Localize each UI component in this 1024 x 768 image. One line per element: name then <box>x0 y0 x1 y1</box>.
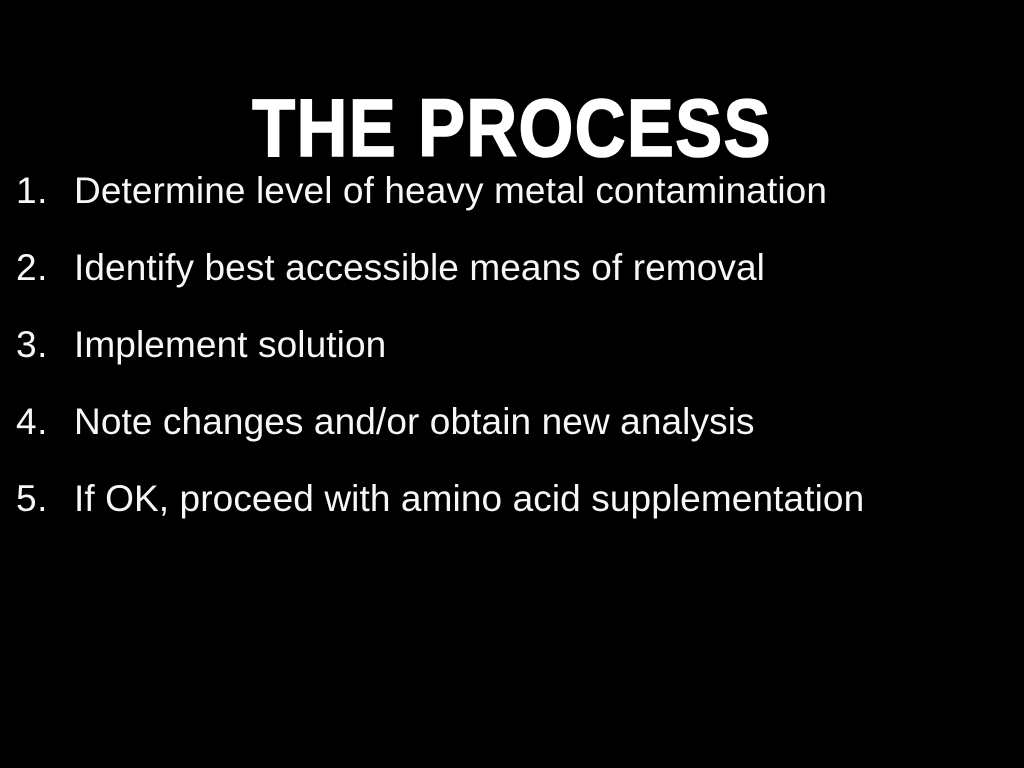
list-item-label: Identify best accessible means of remova… <box>74 229 765 306</box>
list-item-marker: 3. <box>16 306 70 383</box>
process-steps-list: 1. Determine level of heavy metal contam… <box>0 152 1024 537</box>
list-item-label: Determine level of heavy metal contamina… <box>74 152 827 229</box>
list-item-marker: 1. <box>16 152 70 229</box>
list-item-label: Note changes and/or obtain new analysis <box>74 383 755 460</box>
list-item: 4. Note changes and/or obtain new analys… <box>0 383 1024 460</box>
list-item-label: If OK, proceed with amino acid supplemen… <box>74 460 864 537</box>
list-item: 2. Identify best accessible means of rem… <box>0 229 1024 306</box>
list-item: 1. Determine level of heavy metal contam… <box>0 152 1024 229</box>
list-item-label: Implement solution <box>74 306 386 383</box>
list-item-marker: 2. <box>16 229 70 306</box>
list-item: 5. If OK, proceed with amino acid supple… <box>0 460 1024 537</box>
list-item: 3. Implement solution <box>0 306 1024 383</box>
presentation-slide: THE PROCESS 1. Determine level of heavy … <box>0 0 1024 768</box>
list-item-marker: 4. <box>16 383 70 460</box>
list-item-marker: 5. <box>16 460 70 537</box>
